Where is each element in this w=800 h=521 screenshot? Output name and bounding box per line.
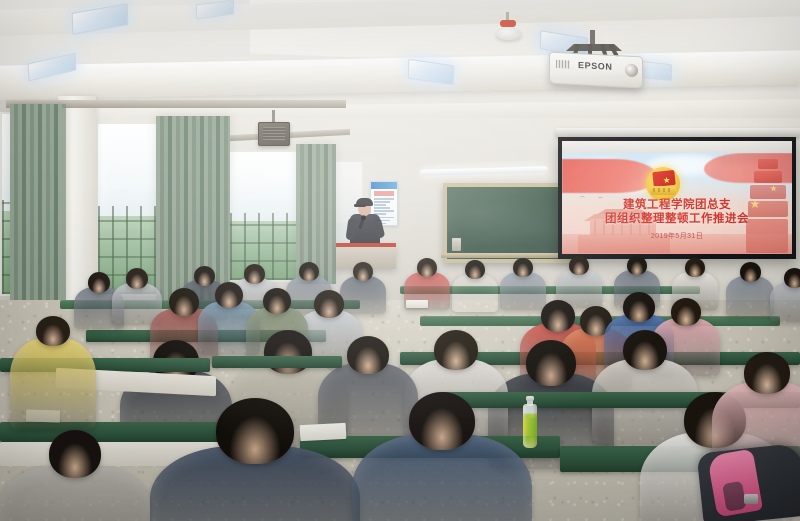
projector-brand-label: EPSON: [578, 60, 613, 72]
projector-lens-icon: [625, 64, 638, 78]
wall-speaker: [258, 122, 290, 146]
ceiling-beam-main: [0, 50, 800, 99]
person-head: [627, 256, 647, 275]
poster-header-bar: [371, 182, 397, 189]
emblem-star-icon: [663, 176, 671, 184]
person-head: [353, 262, 373, 281]
slide-red-banner-left: [562, 159, 658, 193]
person-head: [417, 258, 437, 277]
screen-blank-margin: [562, 141, 792, 153]
student-grey-left: [0, 430, 150, 521]
student-far-g: [452, 260, 498, 317]
student-yellow-check: [10, 316, 96, 438]
person-head: [513, 258, 533, 277]
pagoda-tier: [750, 185, 786, 199]
person-head: [671, 298, 701, 326]
lecture-hall-photo: EPSON: [0, 0, 800, 521]
sprinkler-head-icon: [500, 12, 516, 28]
person-head: [685, 258, 705, 277]
projection-screen: 建筑工程学院团总支 团组织整理整顿工作推进会 2019年5月31日: [556, 128, 800, 262]
slide-title-line2: 团组织整理整顿工作推进会: [562, 213, 792, 227]
person-head: [215, 282, 243, 308]
person-head: [434, 330, 478, 370]
person-head: [216, 398, 294, 464]
person-head: [169, 288, 199, 316]
emblem-ribbon: [650, 186, 676, 195]
epson-projector: EPSON: [549, 52, 643, 89]
pagoda-tier: [758, 159, 778, 169]
person-torso: [726, 276, 774, 316]
paper-handout: [406, 300, 428, 308]
person-head: [623, 292, 655, 322]
person-head: [569, 256, 589, 275]
person-torso: [452, 274, 498, 312]
person-head: [744, 352, 790, 394]
pagoda-tier: [754, 171, 782, 183]
slide-title: 建筑工程学院团总支 团组织整理整顿工作推进会: [562, 199, 792, 226]
screen-roller-casing: [556, 128, 800, 137]
blackboard-eraser: [452, 238, 461, 251]
person-head: [244, 264, 265, 284]
person-head: [465, 260, 485, 279]
person-head: [623, 330, 667, 370]
person-head: [784, 268, 800, 288]
backpack-buckle: [744, 494, 758, 504]
smoke-detector-icon: [496, 28, 522, 40]
student-navy-foreground: [150, 398, 360, 521]
person-head: [314, 290, 344, 318]
person-head: [740, 262, 761, 282]
person-head: [347, 336, 389, 374]
emblem-flag: [652, 170, 675, 187]
person-head: [263, 288, 291, 314]
person-head: [299, 262, 319, 281]
slide-title-line1: 建筑工程学院团总支: [562, 199, 792, 213]
person-torso: [10, 338, 96, 430]
presenter-cap: [356, 198, 373, 206]
person-torso: [770, 282, 800, 322]
student-far-m: [770, 268, 800, 328]
desk-left-mid2: [212, 356, 342, 368]
presenter-person: [347, 196, 383, 246]
person-head: [88, 272, 110, 293]
communist-youth-league-emblem-icon: [646, 167, 680, 201]
slide-date: 2019年5月31日: [562, 231, 792, 241]
projector-vent: [556, 60, 570, 69]
person-head: [126, 268, 148, 289]
student-far-l: [726, 262, 774, 322]
person-head: [526, 340, 576, 386]
person-head: [409, 392, 475, 450]
person-head: [36, 316, 70, 346]
presentation-slide: 建筑工程学院团总支 团组织整理整顿工作推进会 2019年5月31日: [562, 153, 792, 254]
student-blue-right: [352, 392, 532, 521]
person-head: [49, 430, 101, 478]
